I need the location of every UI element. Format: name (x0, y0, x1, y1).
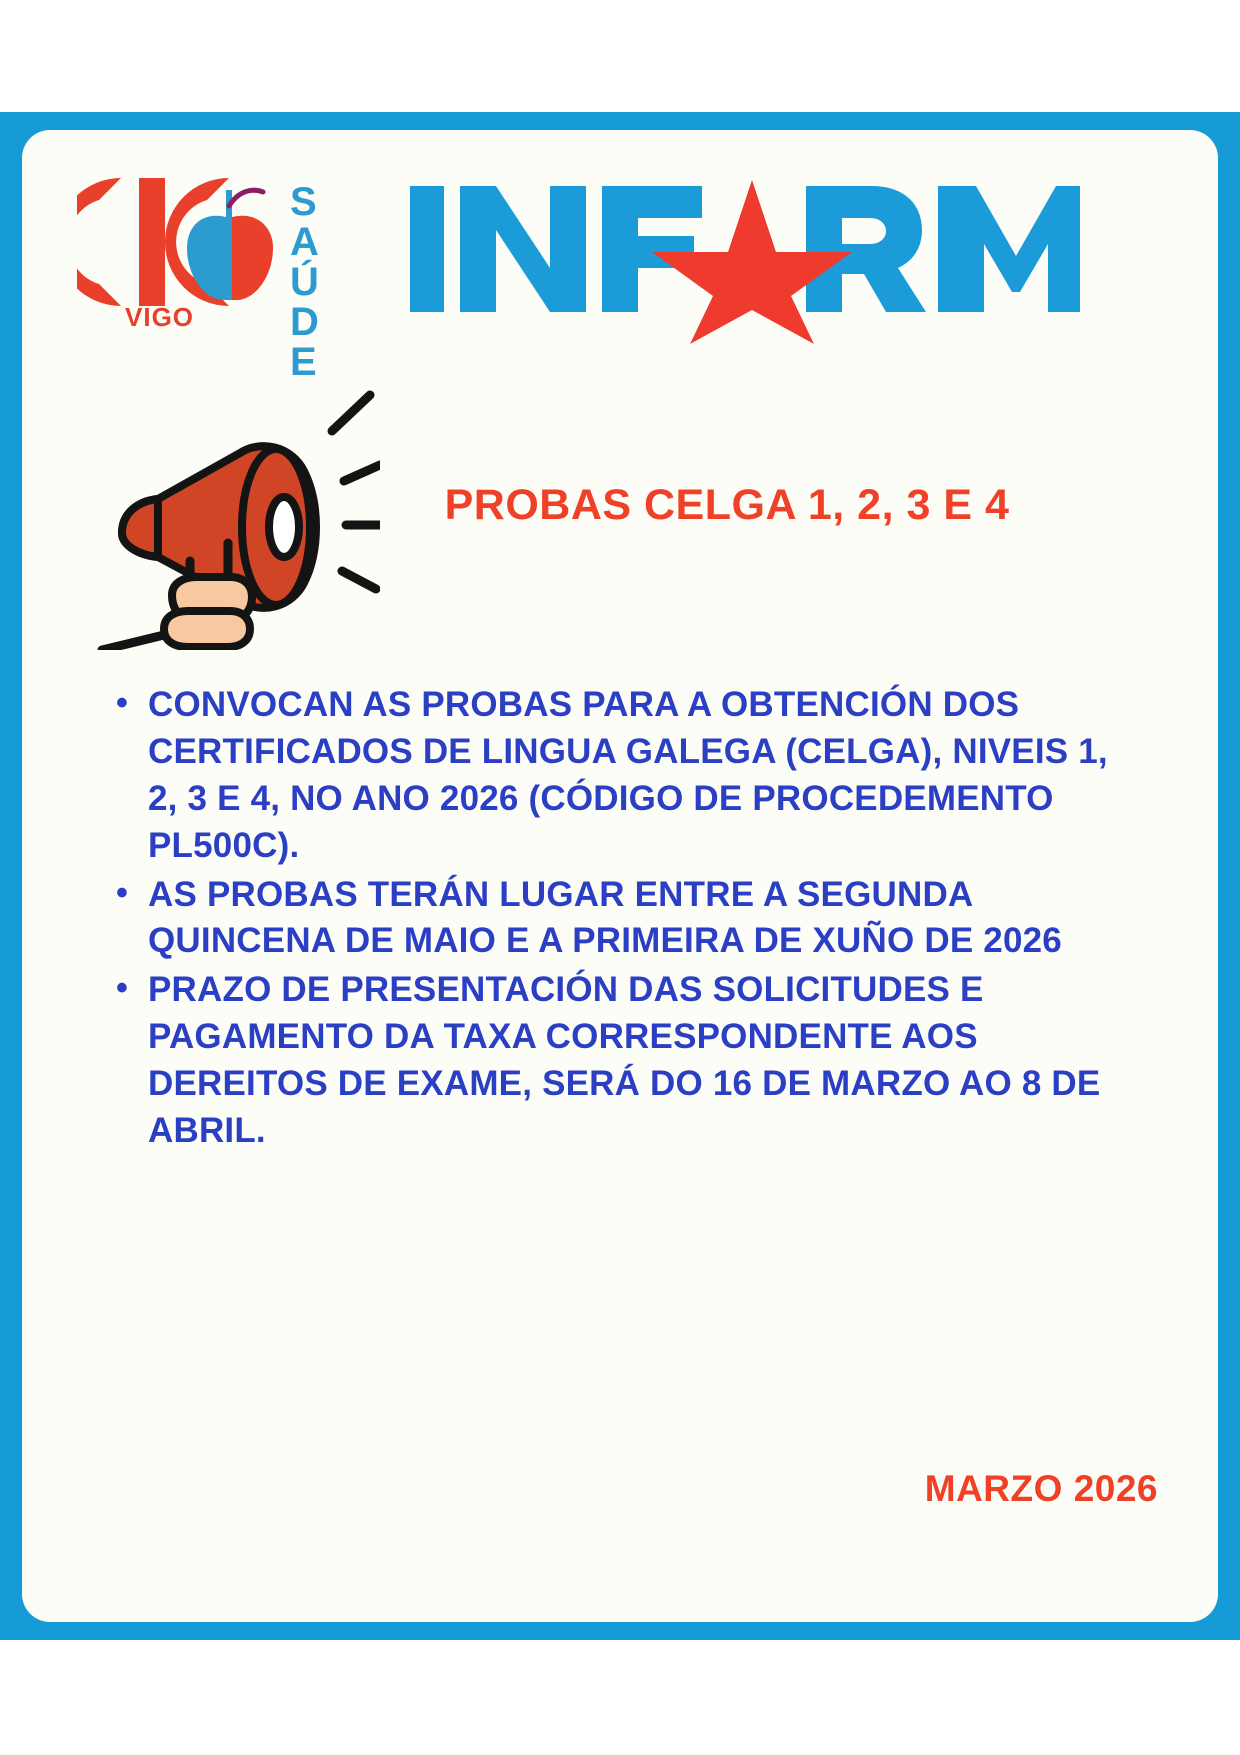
saude-letter-u: Ú (290, 262, 380, 302)
informa-masthead (402, 164, 1082, 344)
headline-row: PROBAS CELGA 1, 2, 3 E 4 (22, 385, 1218, 655)
announcement-bullet-list: CONVOCAN AS PROBAS PARA A OBTENCIÓN DOS … (114, 682, 1134, 1157)
saude-letter-a: A (290, 222, 380, 262)
cig-logo: VIGO (77, 172, 297, 342)
saude-letter-d: D (290, 302, 380, 342)
poster-outer-frame: VIGO S A Ú D E (0, 112, 1240, 1640)
saude-letter-e: E (290, 342, 380, 382)
cig-logo-city-label: VIGO (125, 302, 194, 333)
publication-date: MARZO 2026 (925, 1468, 1158, 1510)
brand-header-row: VIGO S A Ú D E (22, 160, 1218, 360)
cig-logo-mark (77, 172, 297, 312)
poster-card: VIGO S A Ú D E (22, 130, 1218, 1622)
bullet-item: PRAZO DE PRESENTACIÓN DAS SOLICITUDES E … (114, 967, 1134, 1155)
saude-letter-s: S (290, 182, 380, 222)
bullet-item: AS PROBAS TERÁN LUGAR ENTRE A SEGUNDA QU… (114, 872, 1134, 966)
bullet-item: CONVOCAN AS PROBAS PARA A OBTENCIÓN DOS … (114, 682, 1134, 870)
megaphone-icon (80, 385, 380, 650)
informa-wordmark (402, 164, 1082, 344)
page-title: PROBAS CELGA 1, 2, 3 E 4 (382, 481, 1072, 530)
saude-vertical-label: S A Ú D E (290, 182, 380, 382)
